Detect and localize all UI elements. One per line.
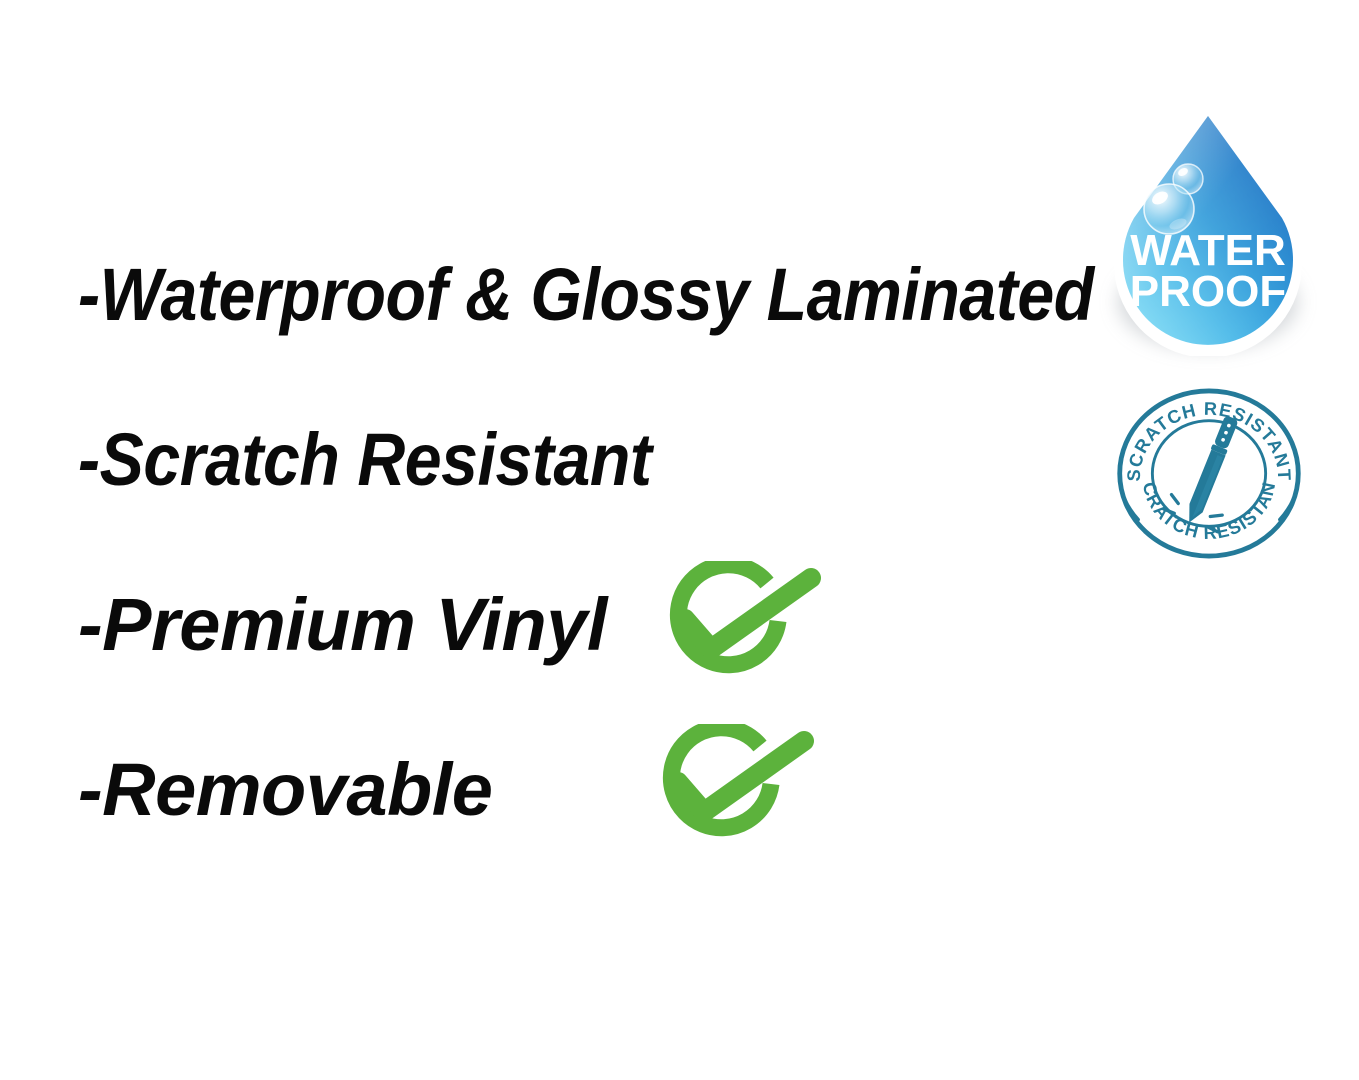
green-check-removable: [638, 724, 823, 844]
feature-item-premium-vinyl: -Premium Vinyl: [78, 585, 1098, 750]
check-circle-icon: [638, 724, 823, 844]
droplet-bubble-large: [1144, 184, 1194, 234]
check-circle-icon: [645, 561, 830, 681]
feature-label-removable: -Removable: [78, 750, 492, 830]
droplet-sheen: [1123, 116, 1293, 345]
feature-item-scratch-resistant: -Scratch Resistant: [78, 420, 1098, 585]
feature-label-waterproof: -Waterproof & Glossy Laminated: [78, 255, 1094, 335]
feature-label-premium-vinyl: -Premium Vinyl: [78, 585, 607, 665]
feature-list: -Waterproof & Glossy Laminated -Scratch …: [78, 255, 1098, 915]
scratch-resistant-stamp: SCRATCH RESISTANT SCRATCH RESISTANT: [1113, 386, 1305, 561]
feature-item-removable: -Removable: [78, 750, 1098, 915]
feature-label-scratch-resistant: -Scratch Resistant: [78, 420, 651, 500]
infographic-canvas: -Waterproof & Glossy Laminated -Scratch …: [0, 0, 1359, 1080]
waterproof-droplet-badge: WATER PROOF: [1104, 104, 1312, 356]
water-droplet-icon: [1104, 104, 1312, 356]
check-tick: [678, 741, 804, 812]
feature-item-waterproof: -Waterproof & Glossy Laminated: [78, 255, 1098, 420]
green-check-premium-vinyl: [645, 561, 830, 681]
scratch-resistant-seal-icon: SCRATCH RESISTANT SCRATCH RESISTANT: [1113, 386, 1305, 561]
check-tick: [685, 578, 811, 649]
